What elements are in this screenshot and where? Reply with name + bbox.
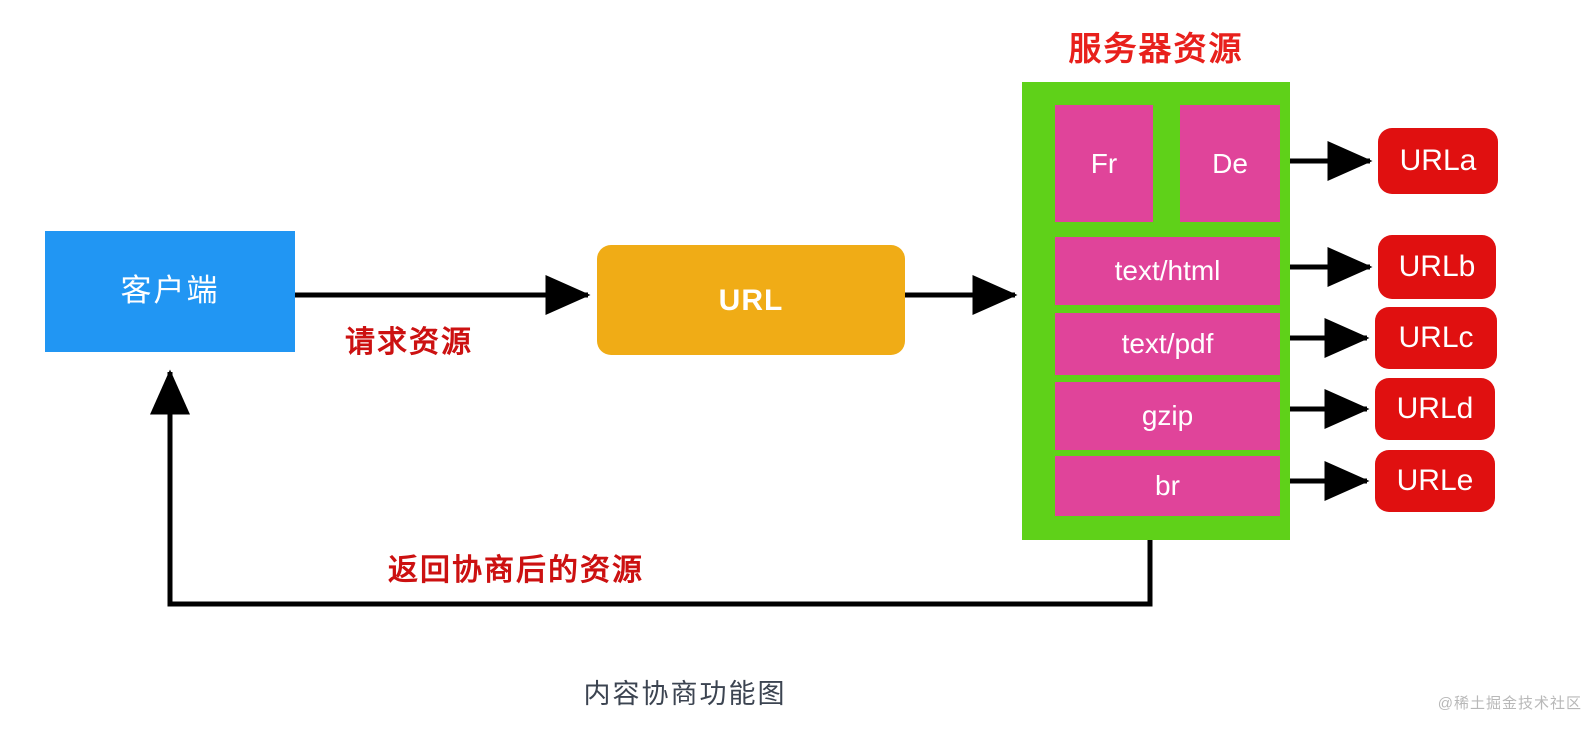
resource-label-fr: Fr bbox=[1091, 150, 1117, 178]
url-target-b[interactable]: URLb bbox=[1378, 235, 1496, 299]
connectors-layer bbox=[0, 0, 1596, 744]
watermark-text: @稀土掘金技术社区 bbox=[1438, 692, 1582, 713]
diagram-canvas: 客户端 请求资源 URL 服务器资源 Fr De text/html text/… bbox=[0, 0, 1596, 744]
resource-label-de: De bbox=[1212, 150, 1248, 178]
server-resources-title: 服务器资源 bbox=[1022, 22, 1290, 70]
url-target-label-e: URLe bbox=[1397, 464, 1474, 498]
label-request-resource: 请求资源 bbox=[345, 317, 473, 361]
watermark: @稀土掘金技术社区 bbox=[1438, 692, 1582, 713]
client-label: 客户端 bbox=[121, 274, 220, 308]
resource-label-text-html: text/html bbox=[1115, 257, 1221, 285]
resource-box-de[interactable]: De bbox=[1180, 105, 1280, 222]
resource-box-br[interactable]: br bbox=[1055, 456, 1280, 516]
url-target-c[interactable]: URLc bbox=[1375, 307, 1497, 369]
resource-box-gzip[interactable]: gzip bbox=[1055, 382, 1280, 450]
url-gateway-node[interactable]: URL bbox=[597, 245, 905, 355]
url-gateway-label: URL bbox=[719, 284, 784, 317]
url-target-label-d: URLd bbox=[1397, 392, 1474, 426]
url-target-label-c: URLc bbox=[1398, 321, 1473, 355]
resource-label-text-pdf: text/pdf bbox=[1122, 330, 1214, 358]
url-target-e[interactable]: URLe bbox=[1375, 450, 1495, 512]
resource-label-gzip: gzip bbox=[1142, 402, 1193, 430]
resource-box-text-pdf[interactable]: text/pdf bbox=[1055, 313, 1280, 375]
arrow-server-to-client-return bbox=[170, 372, 1150, 604]
client-node[interactable]: 客户端 bbox=[45, 231, 295, 352]
resource-box-text-html[interactable]: text/html bbox=[1055, 237, 1280, 305]
url-target-a[interactable]: URLa bbox=[1378, 128, 1498, 194]
label-return-negotiated-resource: 返回协商后的资源 bbox=[388, 545, 644, 589]
diagram-caption: 内容协商功能图 bbox=[0, 672, 1370, 711]
url-target-label-a: URLa bbox=[1400, 144, 1477, 178]
resource-box-fr[interactable]: Fr bbox=[1055, 105, 1153, 222]
url-target-d[interactable]: URLd bbox=[1375, 378, 1495, 440]
server-resources-container: Fr De text/html text/pdf gzip br bbox=[1022, 82, 1290, 540]
url-target-label-b: URLb bbox=[1399, 250, 1476, 284]
resource-label-br: br bbox=[1155, 472, 1180, 500]
